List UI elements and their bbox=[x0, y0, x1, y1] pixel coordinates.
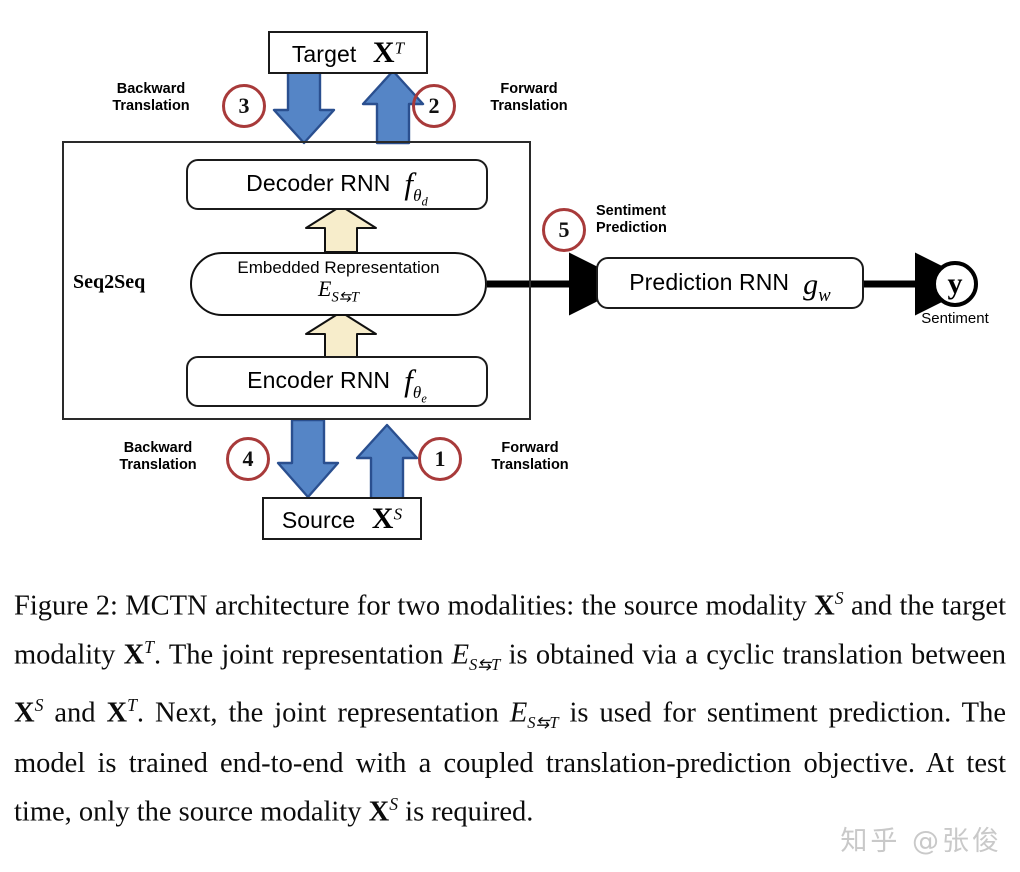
caption-sub-ST-2: S⇆T bbox=[527, 713, 558, 732]
node-target-label: Target XT bbox=[292, 36, 404, 70]
caption-symbol-X-3: X bbox=[14, 697, 35, 728]
step-circle-5[interactable]: 5 bbox=[542, 208, 586, 252]
caption-symbol-E-2: E bbox=[510, 697, 527, 728]
caption-sup-T-2: T bbox=[127, 695, 137, 715]
node-embedded-representation[interactable]: Embedded Representation ES⇆T bbox=[190, 252, 487, 316]
seq2seq-frame-label: Seq2Seq bbox=[73, 271, 191, 294]
caption-prefix: Figure 2: bbox=[14, 591, 118, 622]
node-output-caption: Sentiment bbox=[895, 310, 1015, 327]
caption-sup-T-1: T bbox=[144, 637, 154, 657]
node-output-y-symbol: y bbox=[948, 267, 963, 301]
caption-sup-S-1: S bbox=[835, 588, 844, 608]
step-circle-2[interactable]: 2 bbox=[412, 84, 456, 128]
annotation-label-1: Forward Translation bbox=[465, 440, 595, 474]
caption-part-4: is obtained via a cyclic translation bet… bbox=[500, 639, 1006, 670]
annotation-label-4: Backward Translation bbox=[93, 440, 223, 474]
node-embedded-representation-label: Embedded Representation bbox=[237, 258, 439, 277]
annotation-label-5: Sentiment Prediction bbox=[596, 203, 736, 237]
watermark: 知乎 @张俊 bbox=[840, 819, 1002, 858]
node-source[interactable]: Source XS bbox=[262, 497, 422, 540]
node-decoder-rnn[interactable]: Decoder RNNfθd bbox=[186, 159, 488, 210]
node-decoder-rnn-label: Decoder RNNfθd bbox=[246, 163, 428, 207]
node-prediction-rnn[interactable]: Prediction RNNgw bbox=[596, 257, 864, 309]
step-number-4: 4 bbox=[243, 446, 254, 472]
blue-up-arrow-icon-bottom bbox=[357, 425, 417, 500]
caption-part-6: . Next, the joint representation bbox=[137, 697, 510, 728]
caption-part-3: . The joint representation bbox=[154, 639, 452, 670]
caption-part-1: MCTN architecture for two modalities: th… bbox=[118, 591, 814, 622]
step-circle-3[interactable]: 3 bbox=[222, 84, 266, 128]
figure-caption: Figure 2: MCTN architecture for two moda… bbox=[14, 578, 1006, 832]
step-number-3: 3 bbox=[239, 93, 250, 119]
caption-symbol-X-1: X bbox=[814, 591, 835, 622]
blue-down-arrow-icon-bottom bbox=[278, 420, 338, 497]
step-number-1: 1 bbox=[435, 446, 446, 472]
annotation-label-2: Forward Translation bbox=[464, 81, 594, 115]
annotation-label-3: Backward Translation bbox=[86, 81, 216, 115]
caption-symbol-X-4: X bbox=[106, 697, 127, 728]
caption-symbol-X-5: X bbox=[369, 796, 390, 827]
caption-sup-S-3: S bbox=[389, 794, 398, 814]
step-number-5: 5 bbox=[559, 217, 570, 243]
caption-sub-ST-1: S⇆T bbox=[469, 655, 500, 674]
node-encoder-rnn-label: Encoder RNNfθe bbox=[247, 360, 427, 404]
caption-part-8: is required. bbox=[398, 796, 533, 827]
caption-symbol-E-1: E bbox=[452, 639, 469, 670]
node-output-y[interactable]: y bbox=[932, 261, 978, 307]
blue-down-arrow-icon-top bbox=[274, 72, 334, 143]
node-target[interactable]: Target XT bbox=[268, 31, 428, 74]
node-prediction-rnn-label: Prediction RNNgw bbox=[629, 264, 831, 303]
node-encoder-rnn[interactable]: Encoder RNNfθe bbox=[186, 356, 488, 407]
step-number-2: 2 bbox=[429, 93, 440, 119]
step-circle-4[interactable]: 4 bbox=[226, 437, 270, 481]
node-source-label: Source XS bbox=[282, 502, 402, 536]
figure-diagram: Target XT Source XS Seq2Seq Decoder RNNf… bbox=[0, 0, 1020, 872]
node-embedded-representation-symbol: ES⇆T bbox=[318, 277, 359, 309]
caption-symbol-X-2: X bbox=[124, 639, 145, 670]
caption-part-5: and bbox=[43, 697, 106, 728]
step-circle-1[interactable]: 1 bbox=[418, 437, 462, 481]
